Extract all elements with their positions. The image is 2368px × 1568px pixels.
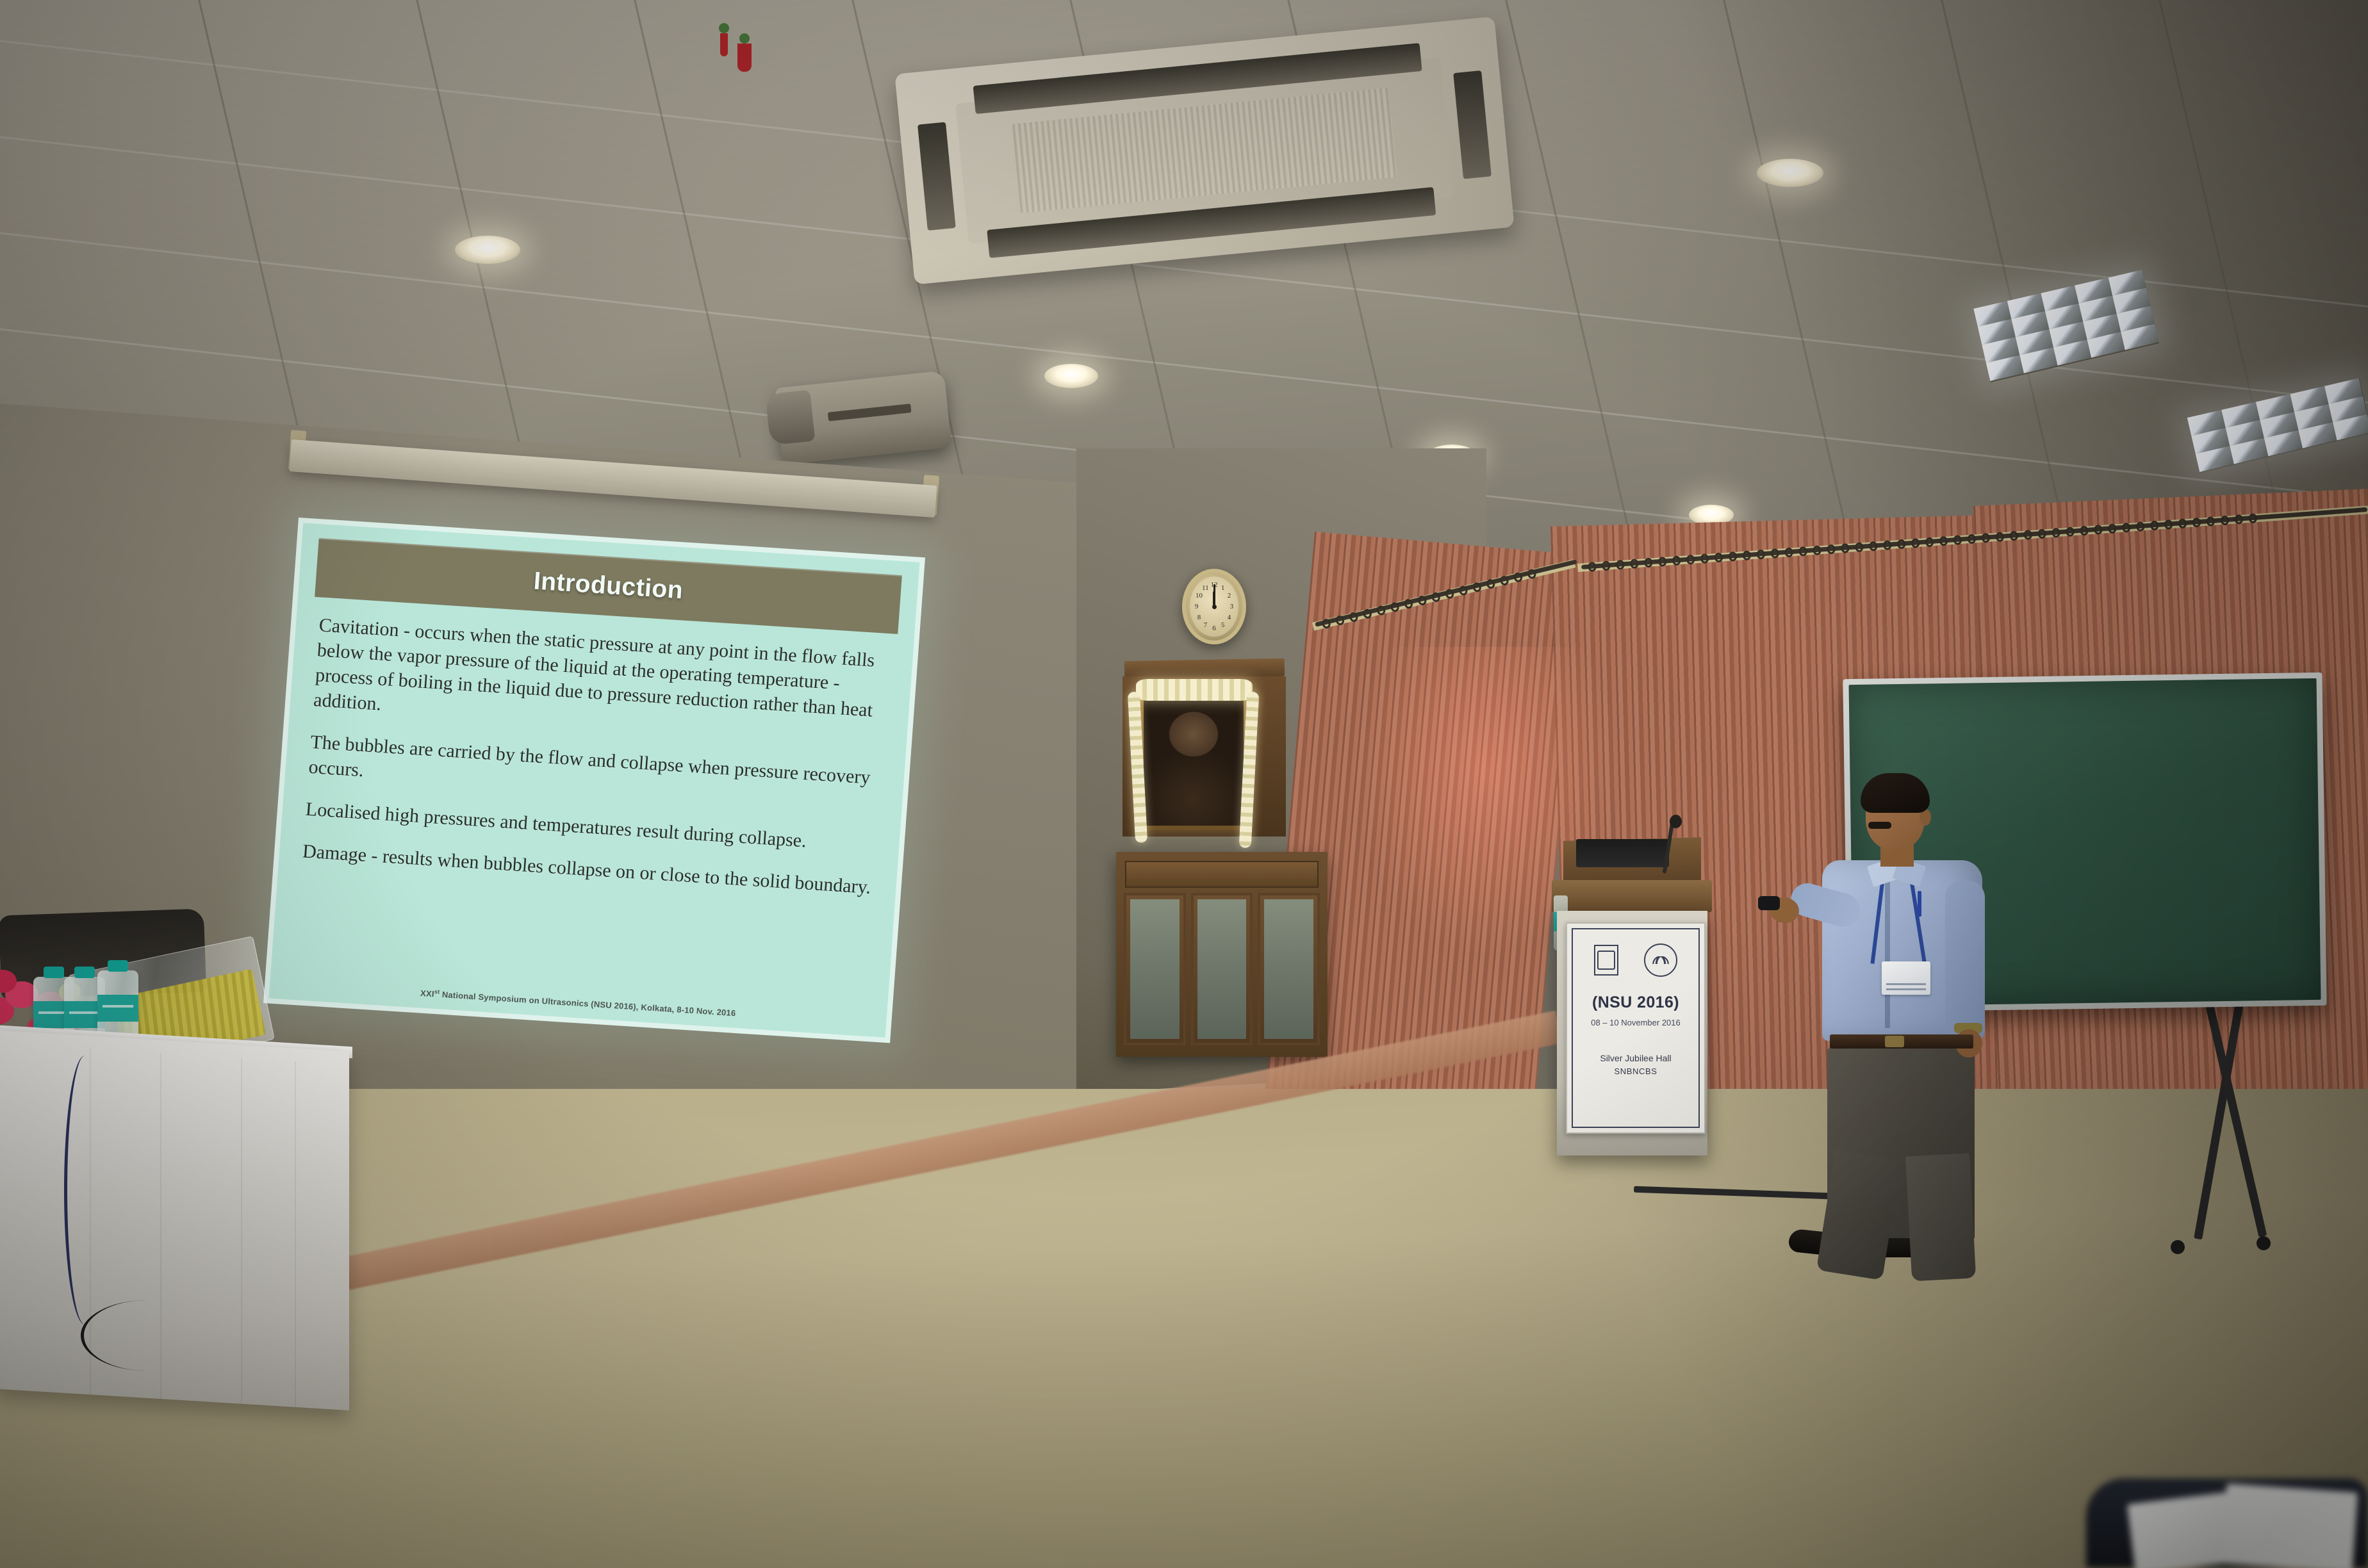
sign-institute: SNBNCBS [1614, 1066, 1657, 1076]
sign-dates: 08 – 10 November 2016 [1591, 1018, 1680, 1027]
clock-numeral: 1 [1221, 584, 1225, 592]
ceiling-decoration-icon [719, 23, 729, 56]
slide-footer-prefix: XXI [420, 988, 435, 999]
presenter-remote-icon[interactable] [1758, 896, 1780, 910]
cabinet-door[interactable] [1191, 893, 1253, 1045]
ceiling-downlight-icon [1757, 159, 1823, 187]
clock-numeral: 11 [1202, 584, 1209, 592]
laptop-icon[interactable] [1576, 839, 1669, 867]
microphone-head-icon [1670, 815, 1682, 828]
clock-numeral: 2 [1228, 592, 1231, 600]
slide-paragraph: Cavitation - occurs when the static pres… [313, 612, 894, 749]
cabinet-drawer[interactable] [1125, 861, 1319, 888]
pen-icon [1918, 891, 1921, 917]
clock-numeral: 4 [1228, 614, 1231, 621]
slide-body: Cavitation - occurs when the static pres… [295, 597, 898, 901]
cabinet-door[interactable] [1258, 893, 1320, 1045]
lectern-shelf [1552, 880, 1712, 912]
lectern-sign: (NSU 2016) 08 – 10 November 2016 Silver … [1566, 922, 1706, 1134]
clock-minute-hand [1213, 584, 1215, 607]
clock-numeral: 8 [1197, 614, 1201, 621]
ceiling-downlight-icon [455, 236, 520, 264]
presenter [1794, 772, 2025, 1271]
cabinet-door[interactable] [1124, 893, 1186, 1045]
clock-numeral: 5 [1221, 621, 1225, 629]
flower-garland-icon [1136, 679, 1253, 701]
cable-icon [64, 1056, 106, 1325]
clock-numeral: 10 [1196, 592, 1203, 600]
sign-title: (NSU 2016) [1592, 993, 1679, 1012]
conference-badge-icon [1882, 961, 1930, 995]
projected-slide: Introduction Cavitation - occurs when th… [263, 518, 925, 1043]
chalkboard-caster [2257, 1236, 2271, 1250]
cable-icon [81, 1300, 212, 1371]
display-cabinet-icon [1116, 852, 1328, 1057]
program-booklet-icon [2086, 1453, 2368, 1568]
clock-numeral: 3 [1230, 603, 1234, 610]
projector-lens-icon [765, 389, 815, 445]
conference-hall-photo: Introduction Cavitation - occurs when th… [0, 0, 2368, 1568]
ceiling-downlight-icon [1044, 364, 1098, 388]
slide-title: Introduction [532, 568, 684, 605]
ultrasonics-society-logo [1644, 943, 1677, 977]
chalkboard-caster [2171, 1240, 2185, 1254]
hair [1861, 773, 1930, 813]
clock-numeral: 6 [1212, 625, 1216, 632]
sign-venue: Silver Jubilee Hall [1600, 1053, 1671, 1063]
trousers [1827, 1046, 1975, 1238]
right-arm [1945, 881, 1985, 1041]
belt [1830, 1034, 1973, 1049]
clock-numeral: 9 [1195, 603, 1199, 610]
wall-clock-icon: 12 1 2 3 4 5 6 7 8 9 10 11 [1182, 569, 1246, 644]
ceiling-decoration-icon [739, 33, 750, 72]
framed-portrait-icon [1139, 690, 1248, 830]
centre-for-ultrasonics-logo [1594, 945, 1618, 976]
clock-numeral: 7 [1204, 621, 1208, 629]
slide-footer-rest: National Symposium on Ultrasonics (NSU 2… [440, 990, 736, 1018]
